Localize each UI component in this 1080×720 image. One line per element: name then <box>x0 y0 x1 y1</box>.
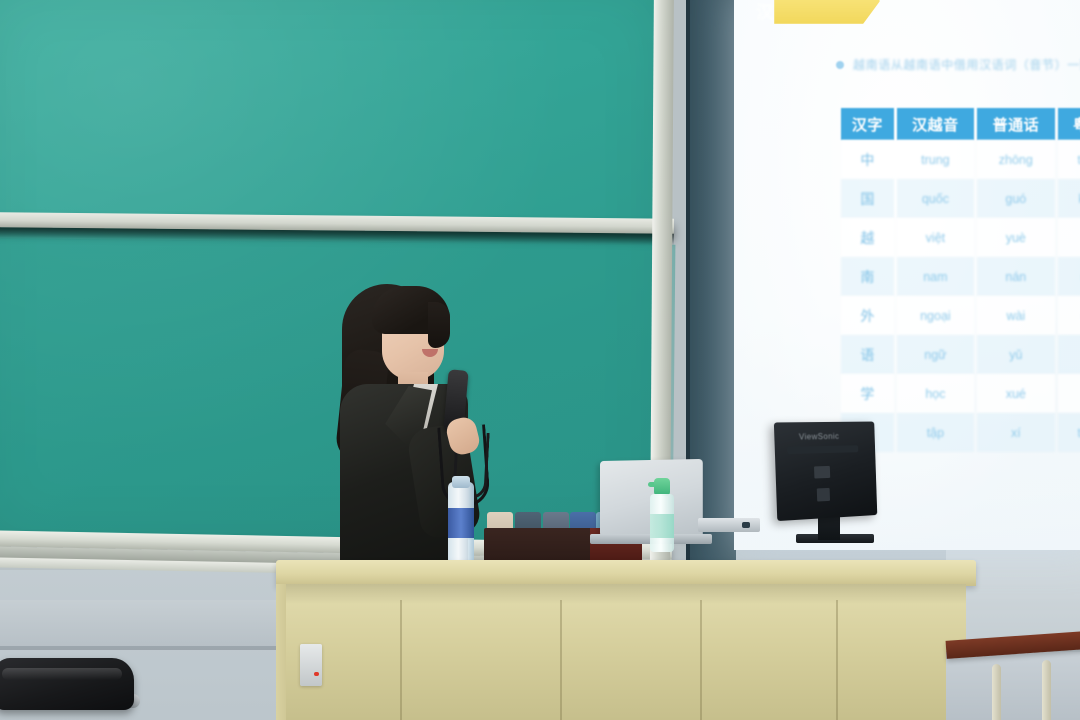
cell-hanzi: 越 <box>841 218 894 257</box>
slide-bullet-text: 越南语从越南语中借用汉语词（音节）一致性 <box>853 56 1080 73</box>
monitor-vent <box>787 445 858 454</box>
vocabulary-table-body: 中trungzhōngtsung1国quốcguókwok3越việtyuèjy… <box>841 140 1080 452</box>
table-row: 习tậpxítsaap6 <box>841 413 1080 452</box>
wall-panel <box>0 600 290 650</box>
table-row: 学họcxuéhok6 <box>841 374 1080 413</box>
slide-ribbon-banner <box>774 0 880 24</box>
right-wall-upper <box>946 540 1080 640</box>
cell-mandarin: guó <box>977 179 1054 218</box>
cell-hanzi: 中 <box>841 140 894 179</box>
vocabulary-table: 汉字 汉越音 普通话 粤方言 中trungzhōngtsung1国quốcguó… <box>838 108 1080 452</box>
sanitizer-label <box>650 514 674 538</box>
cell-hanzi: 南 <box>841 257 894 296</box>
chair-seat <box>0 658 134 710</box>
cell-cantonese: jyu5 <box>1058 335 1080 374</box>
monitor-badge-lower <box>817 488 830 502</box>
table-row: 语ngữyǔjyu5 <box>841 335 1080 374</box>
cell-sinoviet: ngữ <box>897 335 974 374</box>
classroom-chair <box>0 650 144 720</box>
column-header-mandarin: 普通话 <box>977 108 1054 140</box>
table-row: 国quốcguókwok3 <box>841 179 1080 218</box>
cell-sinoviet: học <box>897 374 974 413</box>
cell-cantonese: nam4 <box>1058 257 1080 296</box>
cell-cantonese: ngoi6 <box>1058 296 1080 335</box>
cell-cantonese: tsaap6 <box>1058 413 1080 452</box>
cell-cantonese: jyt6 <box>1058 218 1080 257</box>
cell-hanzi: 外 <box>841 296 894 335</box>
balustrade-wall <box>946 652 1080 720</box>
lecture-hall-photo: 汉 越南语从越南语中借用汉语词（音节）一致性 汉字 汉越音 普通话 粤方言 中t… <box>0 0 1080 720</box>
podium-panel-seam <box>700 600 702 720</box>
cell-hanzi: 学 <box>841 374 894 413</box>
cell-cantonese: hok6 <box>1058 374 1080 413</box>
cell-mandarin: xué <box>977 374 1054 413</box>
cell-sinoviet: quốc <box>897 179 974 218</box>
cell-mandarin: nán <box>977 257 1054 296</box>
desk-control-device[interactable] <box>698 518 760 532</box>
chair-highlight <box>2 668 122 680</box>
cell-mandarin: wài <box>977 296 1054 335</box>
cell-sinoviet: trung <box>897 140 974 179</box>
cell-cantonese: tsung1 <box>1058 140 1080 179</box>
water-bottle-cap <box>452 476 470 488</box>
cell-hanzi: 国 <box>841 179 894 218</box>
table-row: 外ngoạiwàingoi6 <box>841 296 1080 335</box>
table-row: 越việtyuèjyt6 <box>841 218 1080 257</box>
cell-sinoviet: việt <box>897 218 974 257</box>
cell-hanzi: 语 <box>841 335 894 374</box>
table-row: 中trungzhōngtsung1 <box>841 140 1080 179</box>
wall-switch-plate[interactable] <box>300 644 322 686</box>
podium-top-shadow <box>286 584 966 604</box>
column-header-cantonese: 粤方言 <box>1058 108 1080 140</box>
podium-panel-seam <box>560 600 562 720</box>
slide-vocabulary-table: 汉字 汉越音 普通话 粤方言 中trungzhōngtsung1国quốcguó… <box>838 108 1080 452</box>
cell-mandarin: zhōng <box>977 140 1054 179</box>
water-bottle-label <box>448 508 474 538</box>
table-row: 南namnánnam4 <box>841 257 1080 296</box>
column-header-hanzi: 汉字 <box>841 108 894 140</box>
table-header-row: 汉字 汉越音 普通话 粤方言 <box>841 108 1080 140</box>
monitor-badge <box>814 466 830 479</box>
bullet-dot-icon <box>836 61 844 69</box>
podium-top-surface <box>276 560 976 586</box>
cell-mandarin: yuè <box>977 218 1054 257</box>
monitor-brand-label: ViewSonic <box>799 432 840 442</box>
cell-cantonese: kwok3 <box>1058 179 1080 218</box>
cell-mandarin: yǔ <box>977 335 1054 374</box>
podium-panel-seam <box>400 600 402 720</box>
podium-body <box>286 584 966 720</box>
device-indicator <box>742 522 750 528</box>
podium-panel-seam <box>836 600 838 720</box>
cell-sinoviet: nam <box>897 257 974 296</box>
column-header-sinoviet: 汉越音 <box>897 108 974 140</box>
viewsonic-monitor: ViewSonic <box>774 422 877 522</box>
slide-bullet-row: 越南语从越南语中借用汉语词（音节）一致性 <box>836 56 1080 73</box>
handrail-post <box>992 664 1001 720</box>
switch-indicator-led <box>314 672 319 676</box>
hair-side <box>428 302 450 348</box>
handrail-post <box>1042 660 1051 720</box>
cell-sinoviet: ngoại <box>897 296 974 335</box>
cell-mandarin: xí <box>977 413 1054 452</box>
slide-ribbon-label: 汉 <box>756 0 774 23</box>
cell-sinoviet: tập <box>897 413 974 452</box>
